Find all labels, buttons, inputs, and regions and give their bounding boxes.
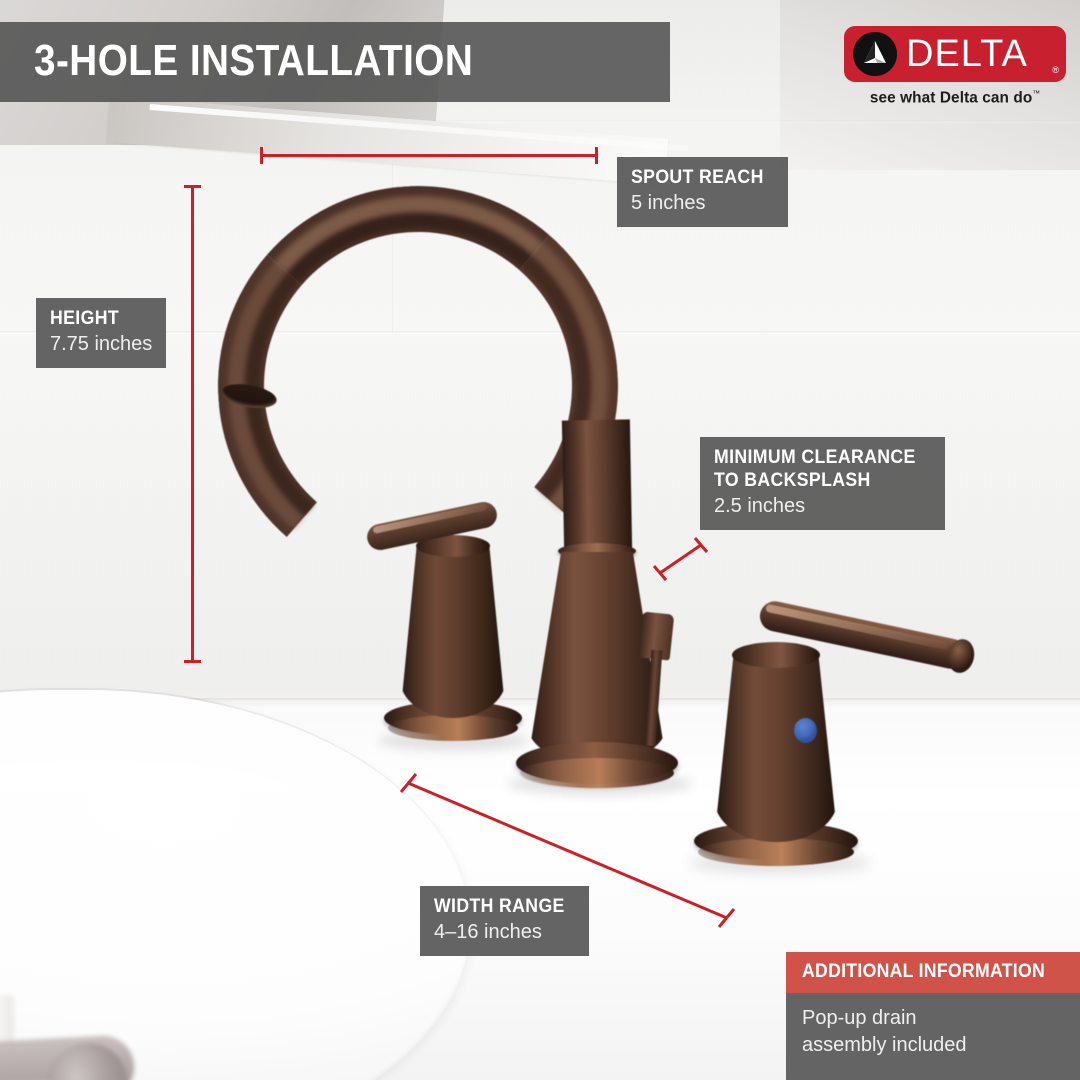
callout-height: HEIGHT 7.75 inches bbox=[36, 298, 166, 368]
callout-title-line1: MINIMUM CLEARANCE bbox=[714, 446, 916, 469]
callout-value: 4–16 inches bbox=[434, 919, 575, 945]
callout-width-range: WIDTH RANGE 4–16 inches bbox=[420, 886, 589, 956]
dimension-end-cap bbox=[184, 660, 201, 663]
callout-value: 5 inches bbox=[631, 190, 774, 216]
callout-value: 7.75 inches bbox=[50, 331, 152, 357]
title-banner: 3-HOLE INSTALLATION bbox=[0, 22, 670, 102]
handle-body bbox=[400, 543, 506, 718]
handle-base-ring bbox=[388, 715, 518, 741]
registered-mark: ® bbox=[1052, 65, 1059, 75]
additional-information-box: ADDITIONAL INFORMATION Pop-up drain asse… bbox=[786, 952, 1080, 1080]
infographic-canvas: 3-HOLE INSTALLATION DELTA ® see what Del… bbox=[0, 0, 1080, 1080]
height-dimension-line bbox=[191, 185, 194, 663]
logo-tagline-text: see what Delta can do bbox=[870, 89, 1032, 106]
dimension-end-cap bbox=[184, 185, 201, 188]
additional-information-body: Pop-up drain assembly included bbox=[786, 993, 1080, 1080]
handle-cap bbox=[732, 642, 820, 668]
minimum-clearance-dimension-line bbox=[645, 530, 725, 590]
callout-minimum-clearance: MINIMUM CLEARANCE TO BACKSPLASH 2.5 inch… bbox=[700, 437, 945, 530]
dimension-end-cap bbox=[260, 147, 263, 164]
callout-value: 2.5 inches bbox=[714, 493, 931, 519]
additional-information-heading: ADDITIONAL INFORMATION bbox=[786, 952, 1080, 993]
dimension-end-cap bbox=[595, 147, 598, 164]
callout-title: SPOUT REACH bbox=[631, 166, 764, 189]
page-title: 3-HOLE INSTALLATION bbox=[34, 36, 473, 86]
delta-logo: DELTA ® see what Delta can do™ bbox=[844, 26, 1066, 107]
cold-water-dot-icon bbox=[794, 718, 817, 743]
callout-spout-reach: SPOUT REACH 5 inches bbox=[617, 157, 788, 227]
trademark-mark: ™ bbox=[1032, 89, 1040, 98]
delta-triangle-icon bbox=[853, 32, 897, 76]
logo-tagline: see what Delta can do™ bbox=[848, 89, 1061, 107]
callout-title: HEIGHT bbox=[50, 307, 145, 330]
logo-pill: DELTA ® bbox=[844, 26, 1066, 82]
logo-wordmark: DELTA bbox=[906, 33, 1028, 75]
callout-title: WIDTH RANGE bbox=[434, 895, 565, 918]
spout-riser bbox=[562, 419, 632, 550]
additional-information-line1: Pop-up drain bbox=[802, 1005, 1064, 1032]
additional-information-heading-text: ADDITIONAL INFORMATION bbox=[802, 961, 1045, 983]
left-handle bbox=[372, 505, 542, 750]
callout-title-line2: TO BACKSPLASH bbox=[714, 469, 916, 492]
spout-reach-dimension-line bbox=[260, 154, 598, 157]
additional-information-line2: assembly included bbox=[802, 1032, 1064, 1059]
